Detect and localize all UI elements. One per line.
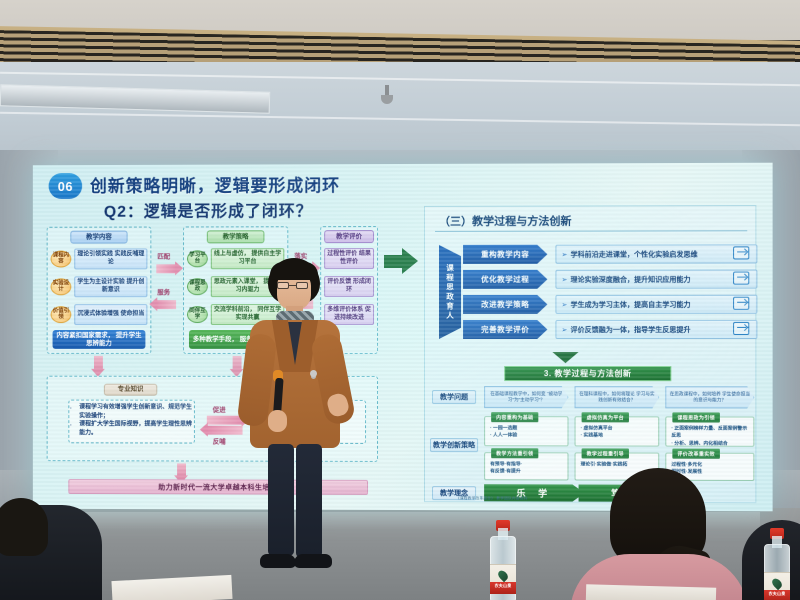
strategy-card-4: 教学方法重引领 有预导·有指导· 有反馈·有提升 [484, 452, 568, 480]
row-text: 理论实验深度融合，提升知识应用能力 [571, 274, 691, 284]
tag-ideology: 课程思政 [187, 278, 208, 295]
right-panel-divider [435, 230, 747, 232]
arrow-down-icon [552, 352, 578, 363]
slide-content: 06 创新策略明晰，逻辑要形成闭环 Q2：逻辑是否形成了闭环？ 教学内容 课程内… [33, 163, 773, 512]
chevron-right-icon: ➢ [561, 250, 567, 258]
tag-learning-platform: 学习平台 [187, 250, 208, 267]
arrow-down-banner [177, 463, 186, 476]
export-icon [733, 297, 749, 310]
strategy-card-2-body: · 虚拟仿真平台 · 实践基地 [581, 425, 656, 440]
text-optimize-process: ➢理论实验深度融合，提升知识应用能力 [555, 270, 757, 289]
pill-optimize-process: 优化教学过程 [463, 270, 547, 289]
presenter-fringe [270, 262, 318, 280]
row-label-strategies: 教学创新策略 [430, 438, 478, 452]
knowledge-bullets: 课程学习有效增强学生创新意识、规范学生实验操作； 课程扩大学生国际视野，提高学生… [72, 404, 193, 439]
tag-experiment-design: 实验设计 [51, 278, 72, 295]
strategy-card-2-header: 虚拟仿真为平台 [582, 412, 629, 422]
knowledge-bullet-2: 课程扩大学生国际视野，提高学生理性思辨能力。 [79, 421, 193, 438]
connector-label-match: 匹配 [157, 250, 170, 260]
chevron-right-icon: ➢ [561, 300, 567, 308]
import-icon [733, 272, 749, 285]
connector-label-serve: 服务 [157, 286, 170, 296]
lecture-hall-scene: 06 创新策略明晰，逻辑要形成闭环 Q2：逻辑是否形成了闭环？ 教学内容 课程内… [0, 0, 800, 600]
header-teaching-strategy: 教学策略 [207, 230, 265, 243]
header-teaching-evaluation: 教学评价 [324, 230, 374, 243]
row-text: 学生成为学习主体，提高自主学习能力 [571, 299, 691, 309]
import-icon [733, 322, 749, 335]
chevron-right-icon: ➢ [561, 275, 567, 283]
lower-right-banner: 3. 教学过程与方法创新 [504, 366, 671, 381]
slide-footnote: 《课程教学改革报告》 教学团队内部资料 [456, 496, 528, 501]
strategy-card-5-header: 教学过程重引导 [582, 448, 629, 458]
card-line: · 虚拟仿真平台 [581, 425, 656, 433]
export-icon [733, 246, 749, 259]
presenter [232, 258, 356, 588]
strategy-card-4-body: 有预导·有指导· 有反馈·有提升 [490, 461, 564, 476]
slide-title-line1: 创新策略明晰，逻辑要形成闭环 [90, 171, 340, 197]
card-line: 有反馈·有提升 [490, 469, 564, 477]
bottle-logo-icon [496, 569, 509, 582]
presenter-shoe-right [294, 554, 332, 568]
glasses-bridge [289, 285, 296, 286]
arrow-down-content [94, 356, 103, 370]
question-box-1: 在基础课程教学中，如何变 "被动学习"为"主动学习"？ [484, 386, 568, 408]
presenter-leg-left [268, 444, 294, 556]
question-box-2: 在理科课程中，如何将理论 学习与实践创新有效结合？ [575, 386, 660, 408]
strategy-card-3: 课程思政为引领 · 正面案例榜样力量、反面案例警示反思 · 分析、思辨、内化相结… [665, 416, 754, 446]
label-nourish: 反哺 [213, 436, 226, 446]
row-label-problems: 教学问题 [432, 390, 476, 404]
card-line: · 正面案例榜样力量、反面案例警示反思 [671, 425, 750, 440]
row-text: 学科前沿走进课堂，个性化实验启发思维 [571, 249, 698, 259]
water-bottle: 农夫山泉 [764, 528, 790, 600]
card-line: · 人人一体验 [490, 433, 564, 441]
text-perfect-evaluation: ➢评价反馈融为一体，指导学生反思提升 [555, 320, 757, 339]
arrow-serve-left [156, 300, 176, 309]
tag-course-content: 课程内容 [51, 251, 72, 268]
bottle-label-band: 农夫山泉 [764, 590, 790, 600]
panel-row-3: 改进教学策略 ➢学生成为学习主体，提高自主学习能力 [463, 295, 755, 314]
presenter-shoe-left [260, 554, 296, 568]
text-improve-strategy: ➢学生成为学习主体，提高自主学习能力 [555, 295, 757, 314]
presenter-hand-left [268, 410, 287, 432]
strategy-card-3-body: · 正面案例榜样力量、反面案例警示反思 · 分析、思辨、内化相结合 [671, 425, 750, 448]
text-restructure-content: ➢学科前沿走进课堂，个性化实验启发思维 [555, 244, 757, 263]
water-bottle: 农夫山泉 [490, 520, 516, 600]
panel-row-4: 完善教学评价 ➢评价反馈融为一体，指导学生反思提升 [463, 320, 755, 339]
card-line: · 分析、思辨、内化相结合 [671, 440, 750, 448]
audience-center [566, 468, 746, 600]
bottle-brand: 农夫山泉 [490, 583, 516, 589]
summary-content: 内容紧扣国家需求， 提升学生思辨能力 [53, 330, 146, 349]
item-content-3: 沉浸式体验增强 使命担当 [74, 304, 147, 325]
glasses-lens-right [296, 282, 308, 289]
side-label-ideology-education: 课程思政育人 [439, 245, 461, 339]
pill-restructure-content: 重构教学内容 [463, 245, 547, 264]
bottle-label: 农夫山泉 [764, 572, 790, 600]
pill-perfect-evaluation: 完善教学评价 [463, 320, 547, 339]
knowledge-bullet-1: 课程学习有效增强学生创新意识、规范学生实验操作； [79, 404, 193, 421]
flow-arrow-icon [384, 248, 418, 274]
desk-paper [586, 584, 716, 600]
glasses-lens-left [277, 282, 289, 289]
row-text: 评价反馈融为一体，指导学生反思提升 [571, 324, 691, 334]
strategy-card-1: 内容重构为基础 · 一园一选题 · 人人一体验 [484, 416, 568, 446]
slide-number-badge: 06 [49, 173, 83, 199]
header-teaching-content: 教学内容 [70, 231, 127, 244]
strategy-card-1-header: 内容重构为基础 [491, 412, 538, 422]
strategy-card-4-header: 教学方法重引领 [491, 448, 538, 458]
chevron-right-icon: ➢ [561, 325, 567, 333]
panel-row-2: 优化教学过程 ➢理论实验深度融合，提升知识应用能力 [463, 270, 755, 289]
tag-peer-learning: 同伴互学 [187, 306, 208, 323]
strategy-card-3-header: 课程思政为引领 [672, 412, 720, 422]
right-panel-title: （三）教学过程与方法创新 [439, 213, 572, 229]
strategy-card-1-body: · 一园一选题 · 人人一体验 [490, 425, 564, 440]
audience-left-head [0, 498, 48, 556]
bottle-logo-icon [770, 577, 783, 590]
label-promote: 促进 [213, 404, 226, 414]
item-content-1: 理论引领实践 实践反哺理论 [74, 248, 147, 269]
bottle-label: 农夫山泉 [490, 564, 516, 594]
slide-title-line2: Q2：逻辑是否形成了闭环？ [104, 197, 313, 221]
arrow-match-right [156, 264, 176, 273]
tag-value-guidance: 价值引领 [51, 306, 72, 323]
bottle-label-band: 农夫山泉 [490, 582, 516, 594]
presenter-leg-right [296, 444, 322, 558]
header-professional-knowledge: 专业知识 [104, 384, 157, 396]
question-box-3: 在思政课程中，如何培养 学生使命担当的意识与能力？ [665, 386, 754, 408]
projection-screen: 06 创新策略明晰，逻辑要形成闭环 Q2：逻辑是否形成了闭环？ 教学内容 课程内… [33, 163, 773, 512]
pill-improve-strategy: 改进教学策略 [463, 295, 547, 314]
bottle-brand: 农夫山泉 [764, 591, 790, 597]
strategy-card-6-header: 评价改革重实效 [672, 449, 720, 459]
card-line: · 实践基地 [581, 433, 656, 441]
lapel-pin-icon [310, 370, 317, 377]
item-content-2: 学生为主设计实验 提升创新意识 [74, 276, 147, 297]
card-line: · 一园一选题 [490, 425, 564, 433]
panel-row-1: 重构教学内容 ➢学科前沿走进课堂，个性化实验启发思维 [463, 244, 755, 264]
strategy-card-2: 虚拟仿真为平台 · 虚拟仿真平台 · 实践基地 [575, 416, 660, 446]
